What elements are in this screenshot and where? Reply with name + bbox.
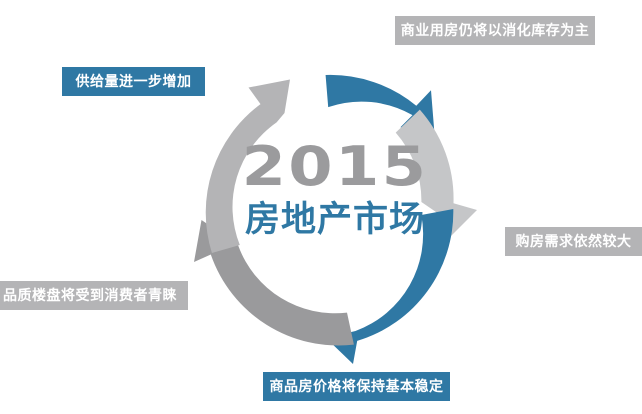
callout-purchase-demand-label: 购房需求依然较大 <box>516 235 632 249</box>
cycle-diagram <box>185 55 485 365</box>
callout-commodity-price-label: 商品房价格将保持基本稳定 <box>270 380 444 394</box>
callout-commercial-housing[interactable]: 商业用房仍将以消化库存为主 <box>395 16 595 45</box>
callout-commercial-housing-label: 商业用房仍将以消化库存为主 <box>401 24 590 38</box>
callout-quality-property-label: 品质楼盘将受到消费者青睐 <box>3 289 177 303</box>
infographic-canvas: 2015 房地产市场 商业用房仍将以消化库存为主 供给量进一步增加 购房需求依然… <box>0 0 642 414</box>
callout-supply-increase[interactable]: 供给量进一步增加 <box>62 67 205 96</box>
callout-supply-increase-label: 供给量进一步增加 <box>76 75 192 89</box>
callout-commodity-price[interactable]: 商品房价格将保持基本稳定 <box>263 372 450 401</box>
callout-purchase-demand[interactable]: 购房需求依然较大 <box>505 227 642 256</box>
ring-segment-supply-increase <box>206 80 290 254</box>
callout-quality-property[interactable]: 品质楼盘将受到消费者青睐 <box>0 281 188 310</box>
